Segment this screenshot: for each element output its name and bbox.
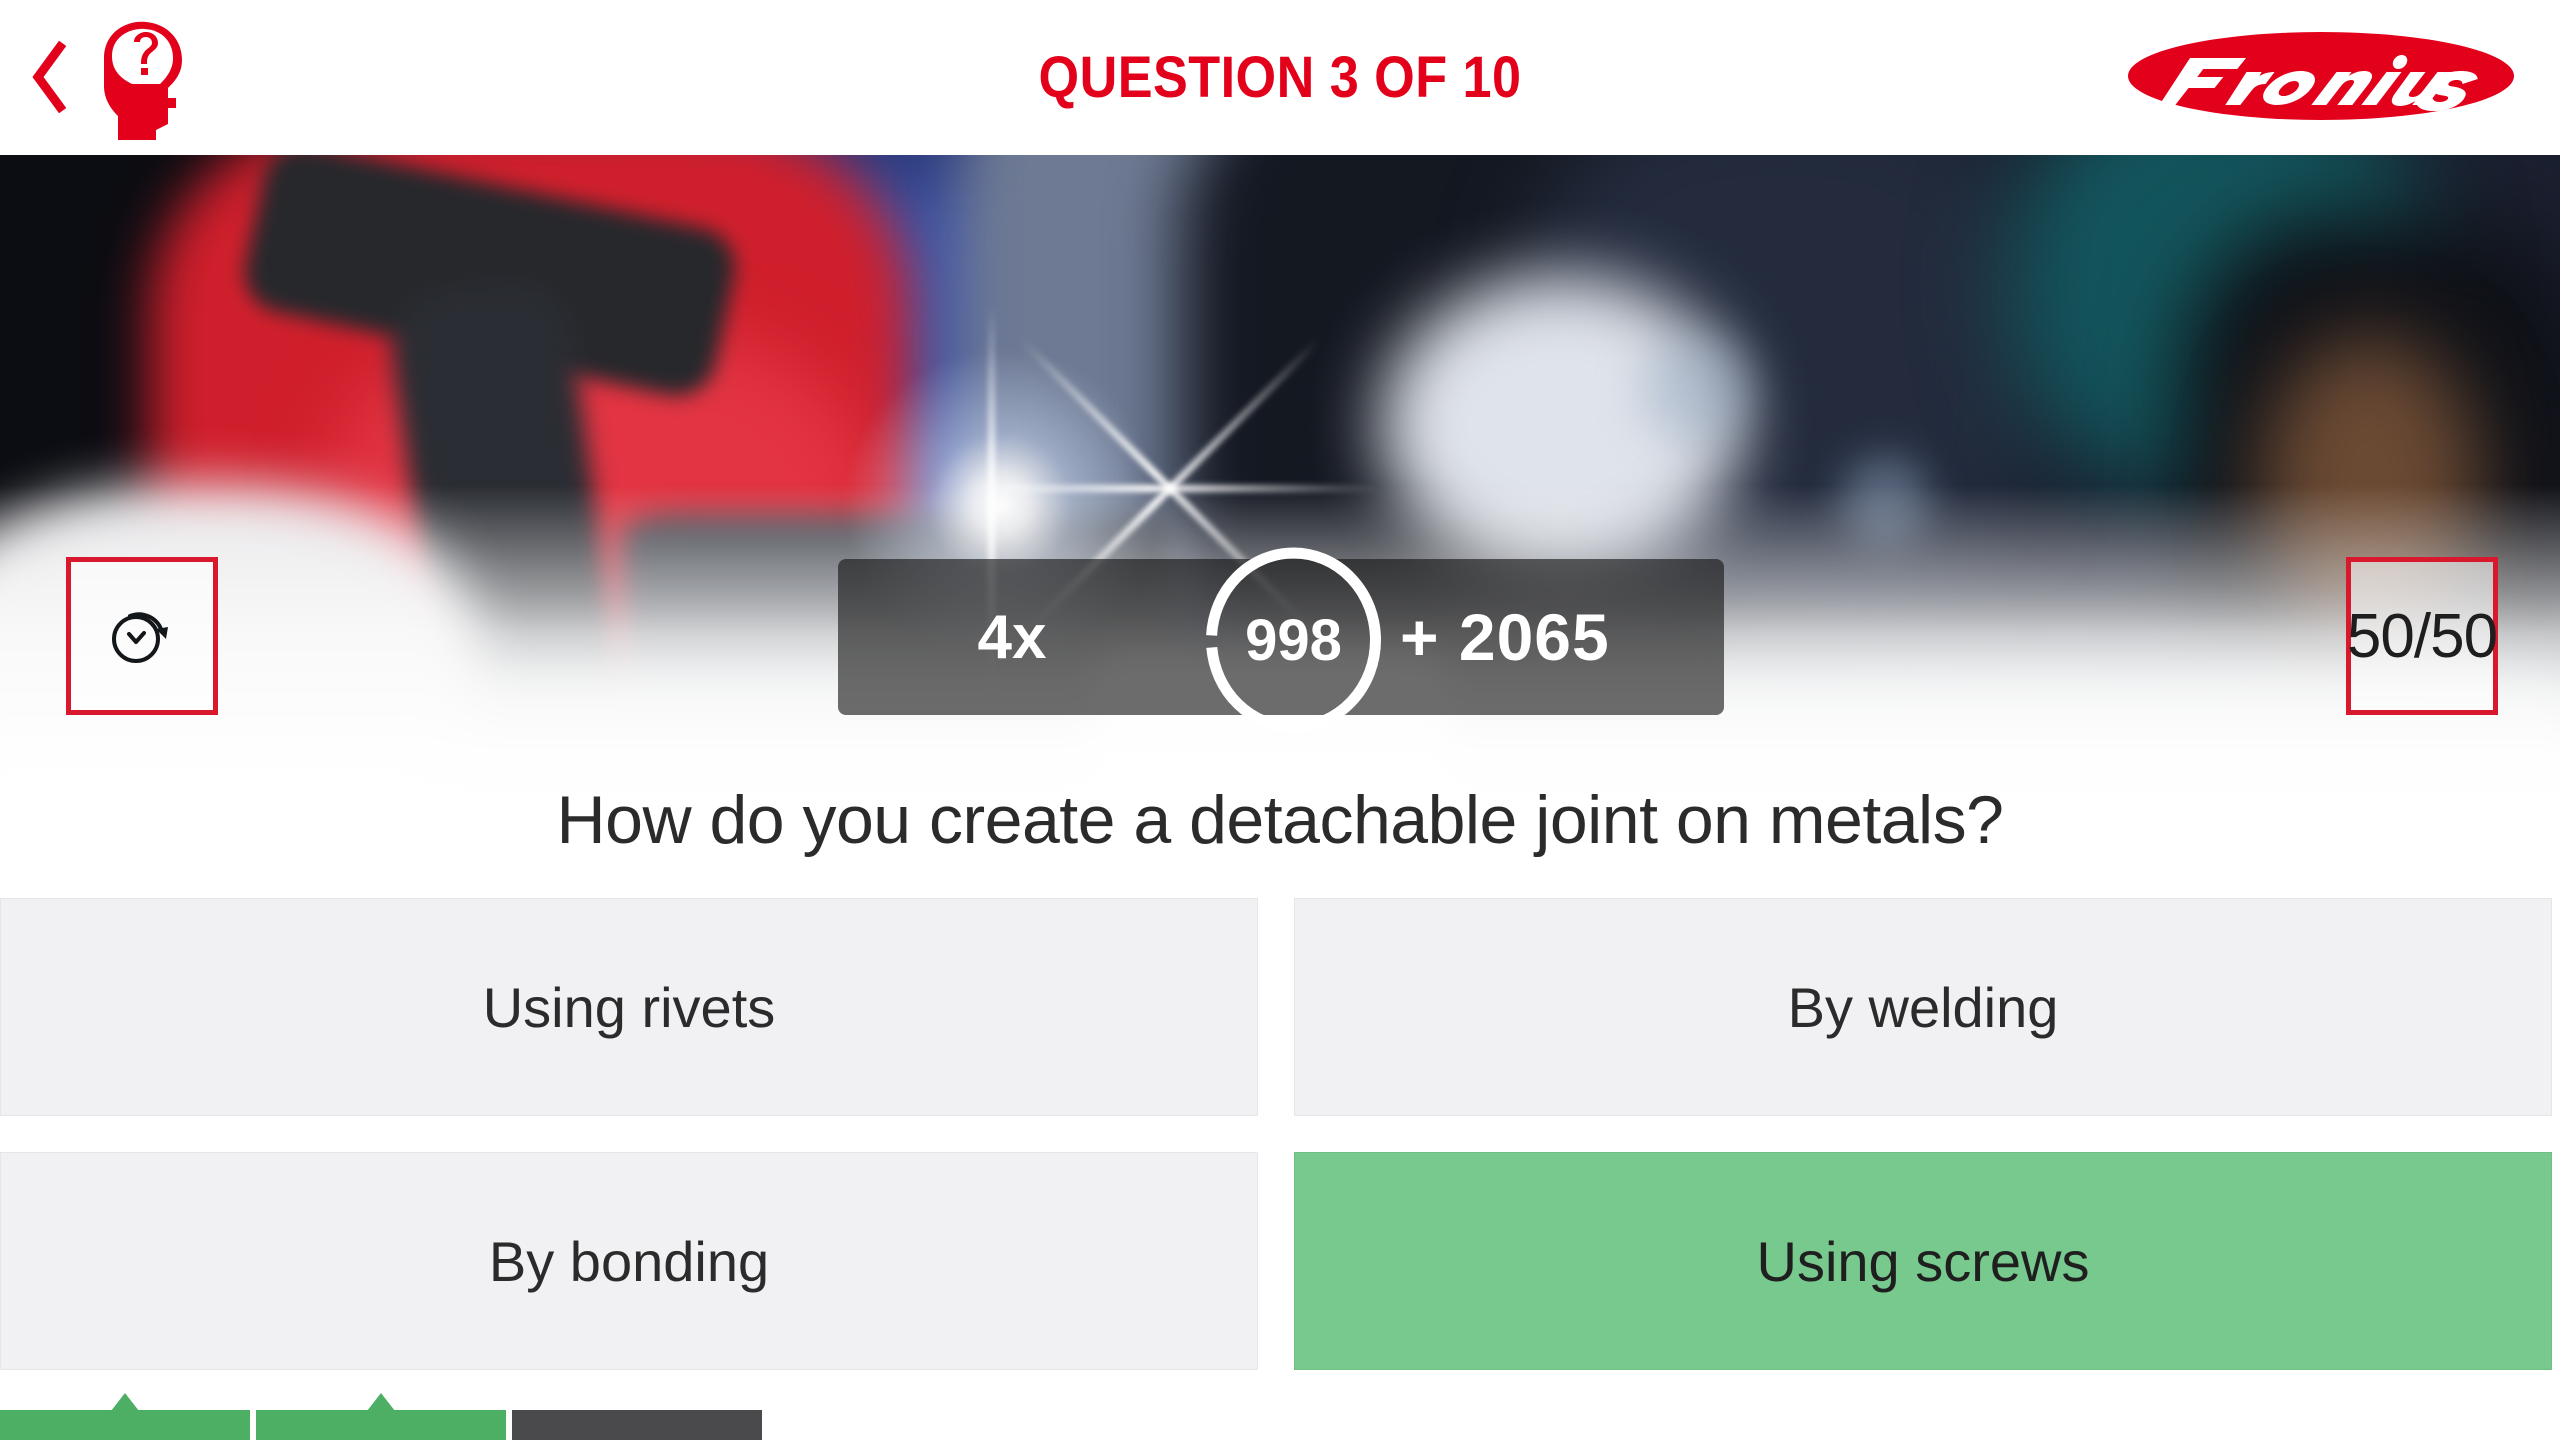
progress-segment xyxy=(1536,1410,1786,1440)
progress-segment xyxy=(1024,1410,1274,1440)
progress-segment xyxy=(0,1410,250,1440)
answer-option-3[interactable]: By bonding xyxy=(0,1152,1258,1370)
fronius-logo xyxy=(2126,26,2516,126)
progress-segment xyxy=(768,1410,1018,1440)
quiz-progress-bar xyxy=(0,1404,2560,1440)
progress-segment xyxy=(256,1410,506,1440)
progress-segment xyxy=(512,1410,762,1440)
powerup-extra-time[interactable] xyxy=(66,557,218,715)
clock-refresh-icon xyxy=(108,605,176,667)
app-header: QUESTION 3 OF 10 xyxy=(0,0,2560,155)
back-button[interactable] xyxy=(22,38,78,116)
quiz-screen: QUESTION 3 OF 10 xyxy=(0,0,2560,1440)
progress-segment xyxy=(2304,1410,2554,1440)
points-earned: + 2065 xyxy=(1400,559,1730,715)
progress-segment xyxy=(2048,1410,2298,1440)
answer-options: Using rivets By welding By bonding Using… xyxy=(0,898,2560,1370)
progress-segment xyxy=(1280,1410,1530,1440)
answer-label: Using screws xyxy=(1757,1229,2090,1294)
question-hero-image: 4x 998 + 2065 50/50 xyxy=(0,155,2560,815)
page-title: QUESTION 3 OF 10 xyxy=(128,0,2432,155)
powerup-fifty-fifty-label: 50/50 xyxy=(2347,601,2497,672)
powerup-fifty-fifty[interactable]: 50/50 xyxy=(2346,557,2498,715)
answer-label: By welding xyxy=(1788,975,2059,1040)
answer-option-4[interactable]: Using screws xyxy=(1294,1152,2552,1370)
score-multiplier: 4x xyxy=(932,559,1092,715)
progress-segment xyxy=(1792,1410,2042,1440)
question-timer: 998 xyxy=(1201,545,1386,735)
question-text: How do you create a detachable joint on … xyxy=(0,760,2560,880)
answer-option-1[interactable]: Using rivets xyxy=(0,898,1258,1116)
answer-option-2[interactable]: By welding xyxy=(1294,898,2552,1116)
timer-value: 998 xyxy=(1201,545,1386,735)
answer-label: By bonding xyxy=(489,1229,769,1294)
chevron-left-icon xyxy=(30,41,70,113)
answer-label: Using rivets xyxy=(483,975,776,1040)
